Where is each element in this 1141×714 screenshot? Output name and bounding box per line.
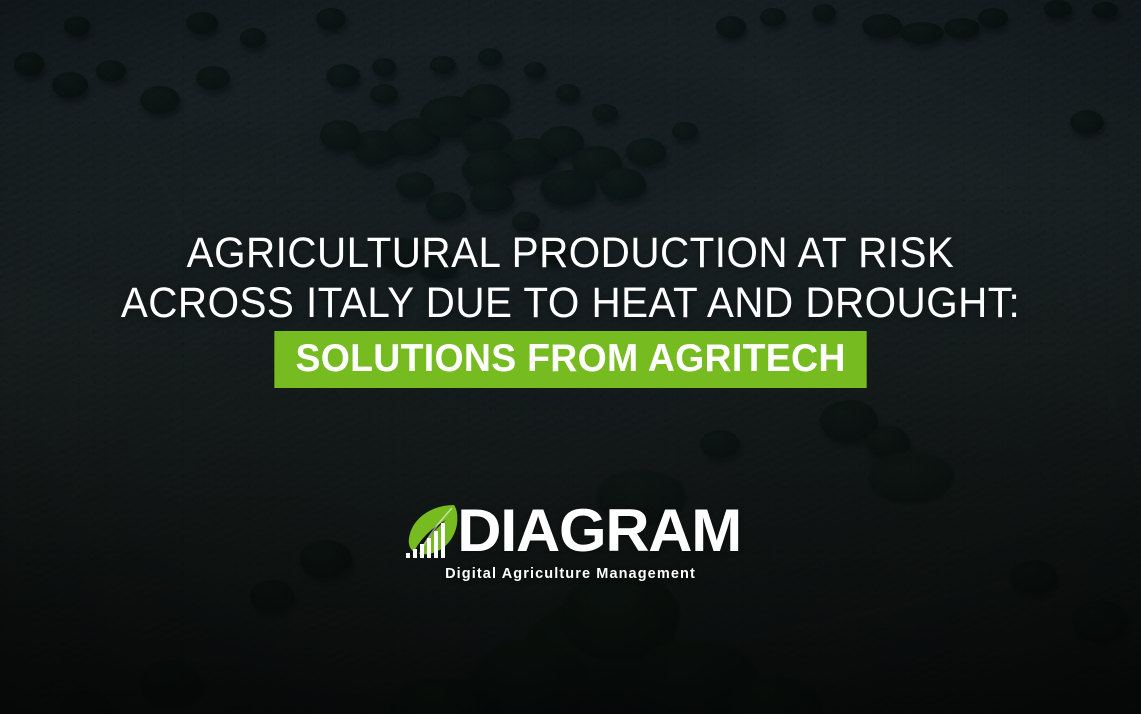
highlight-wrapper: SOLUTIONS FROM AGRITECH bbox=[0, 331, 1141, 388]
logo-tagline: Digital Agriculture Management bbox=[445, 566, 696, 582]
banner-content: AGRICULTURAL PRODUCTION AT RISK ACROSS I… bbox=[0, 0, 1141, 714]
brand-logo[interactable]: DIAGRAM Digital Agriculture Management bbox=[0, 498, 1141, 582]
leaf-bar-chart-icon bbox=[402, 502, 464, 560]
promo-banner: AGRICULTURAL PRODUCTION AT RISK ACROSS I… bbox=[0, 0, 1141, 714]
headline-line-1: AGRICULTURAL PRODUCTION AT RISK bbox=[34, 228, 1107, 278]
logo-wordmark: DIAGRAM bbox=[458, 502, 742, 560]
logo-row: DIAGRAM bbox=[402, 498, 738, 560]
highlight-band: SOLUTIONS FROM AGRITECH bbox=[274, 331, 866, 388]
headline: AGRICULTURAL PRODUCTION AT RISK ACROSS I… bbox=[34, 228, 1107, 328]
headline-line-2: ACROSS ITALY DUE TO HEAT AND DROUGHT: bbox=[34, 278, 1107, 328]
